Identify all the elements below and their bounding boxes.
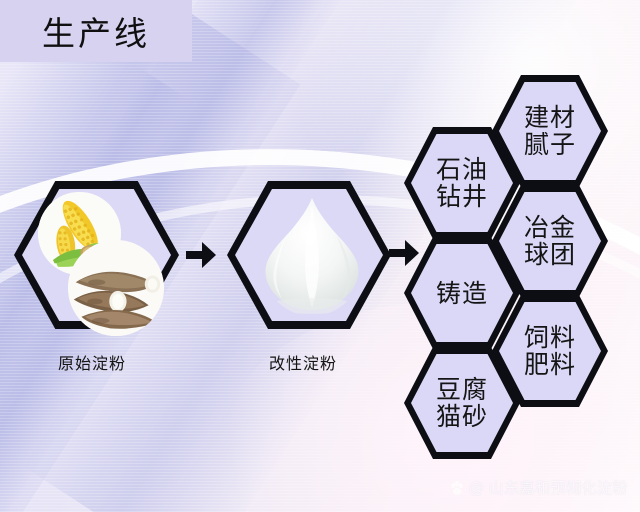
hexagon-label: 饲料 肥料: [524, 324, 576, 378]
watermark: @ 山东嘉和预糊化淀粉: [449, 477, 628, 498]
title-band: 生产线: [0, 0, 192, 62]
starch-pile-illustration: [258, 194, 366, 316]
page-title: 生产线: [42, 7, 150, 55]
caption-modified-starch: 改性淀粉: [269, 350, 337, 374]
hexagon-label: 建材 腻子: [524, 104, 576, 158]
cassava-photo: [68, 240, 164, 336]
hexagon-fill: 豆腐 猫砂: [411, 354, 513, 452]
starch-powder-photo: [258, 194, 366, 316]
hexagon-fill: 饲料 肥料: [499, 302, 601, 400]
hexagon-label: 豆腐 猫砂: [436, 376, 488, 430]
slide-canvas: 生产线: [0, 0, 640, 512]
hexagon-label: 冶金 球团: [524, 214, 576, 268]
hexagon-fill: 冶金 球团: [499, 192, 601, 290]
watermark-text: 山东嘉和预糊化淀粉: [488, 477, 628, 498]
cassava-illustration: [68, 240, 164, 336]
caption-raw-starch: 原始淀粉: [58, 350, 126, 374]
hexagon-label: 石油 钻井: [436, 156, 488, 210]
hexagon-fill: 石油 钻井: [411, 134, 513, 232]
hexagon-label: 铸造: [436, 280, 488, 307]
paw-icon: [449, 480, 465, 496]
hexagon-fill: 铸造: [411, 244, 513, 342]
arrow-right-icon: [186, 238, 216, 272]
arrow-right-icon: [389, 236, 419, 270]
watermark-at: @: [469, 479, 485, 497]
hexagon-fill: 建材 腻子: [499, 82, 601, 180]
